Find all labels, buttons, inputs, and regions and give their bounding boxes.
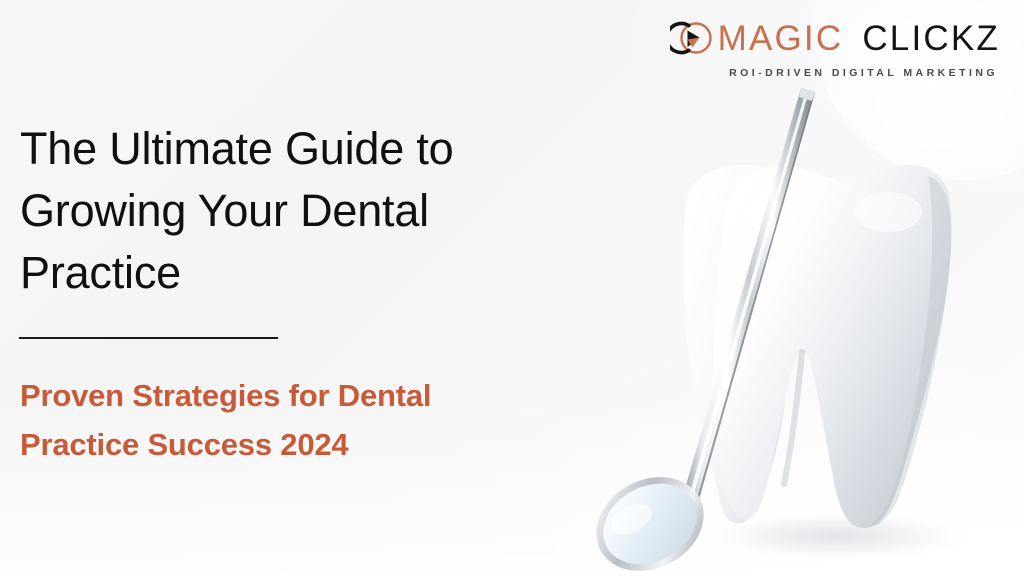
logo-word-magic: MAGIC	[718, 21, 844, 56]
tooth-artwork	[588, 84, 1024, 576]
hero-divider-rule	[19, 337, 278, 339]
logo-tagline: ROI-DRIVEN DIGITAL MARKETING	[729, 67, 998, 79]
magic-clickz-circles-mark	[670, 16, 714, 60]
dental-guide-banner: MAGIC CLICKZ ROI-DRIVEN DIGITAL MARKETIN…	[0, 0, 1024, 576]
brand-logo[interactable]: MAGIC CLICKZ ROI-DRIVEN DIGITAL MARKETIN…	[670, 16, 1000, 79]
tooth-highlight	[726, 190, 842, 278]
hero-subheadline: Proven Strategies for Dental Practice Su…	[20, 372, 490, 470]
hero-headline: The Ultimate Guide to Growing Your Denta…	[20, 118, 540, 304]
tooth-highlight-secondary	[854, 192, 922, 232]
logo-wordmark-row: MAGIC CLICKZ	[670, 16, 1000, 60]
logo-word-clickz: CLICKZ	[862, 21, 1000, 56]
